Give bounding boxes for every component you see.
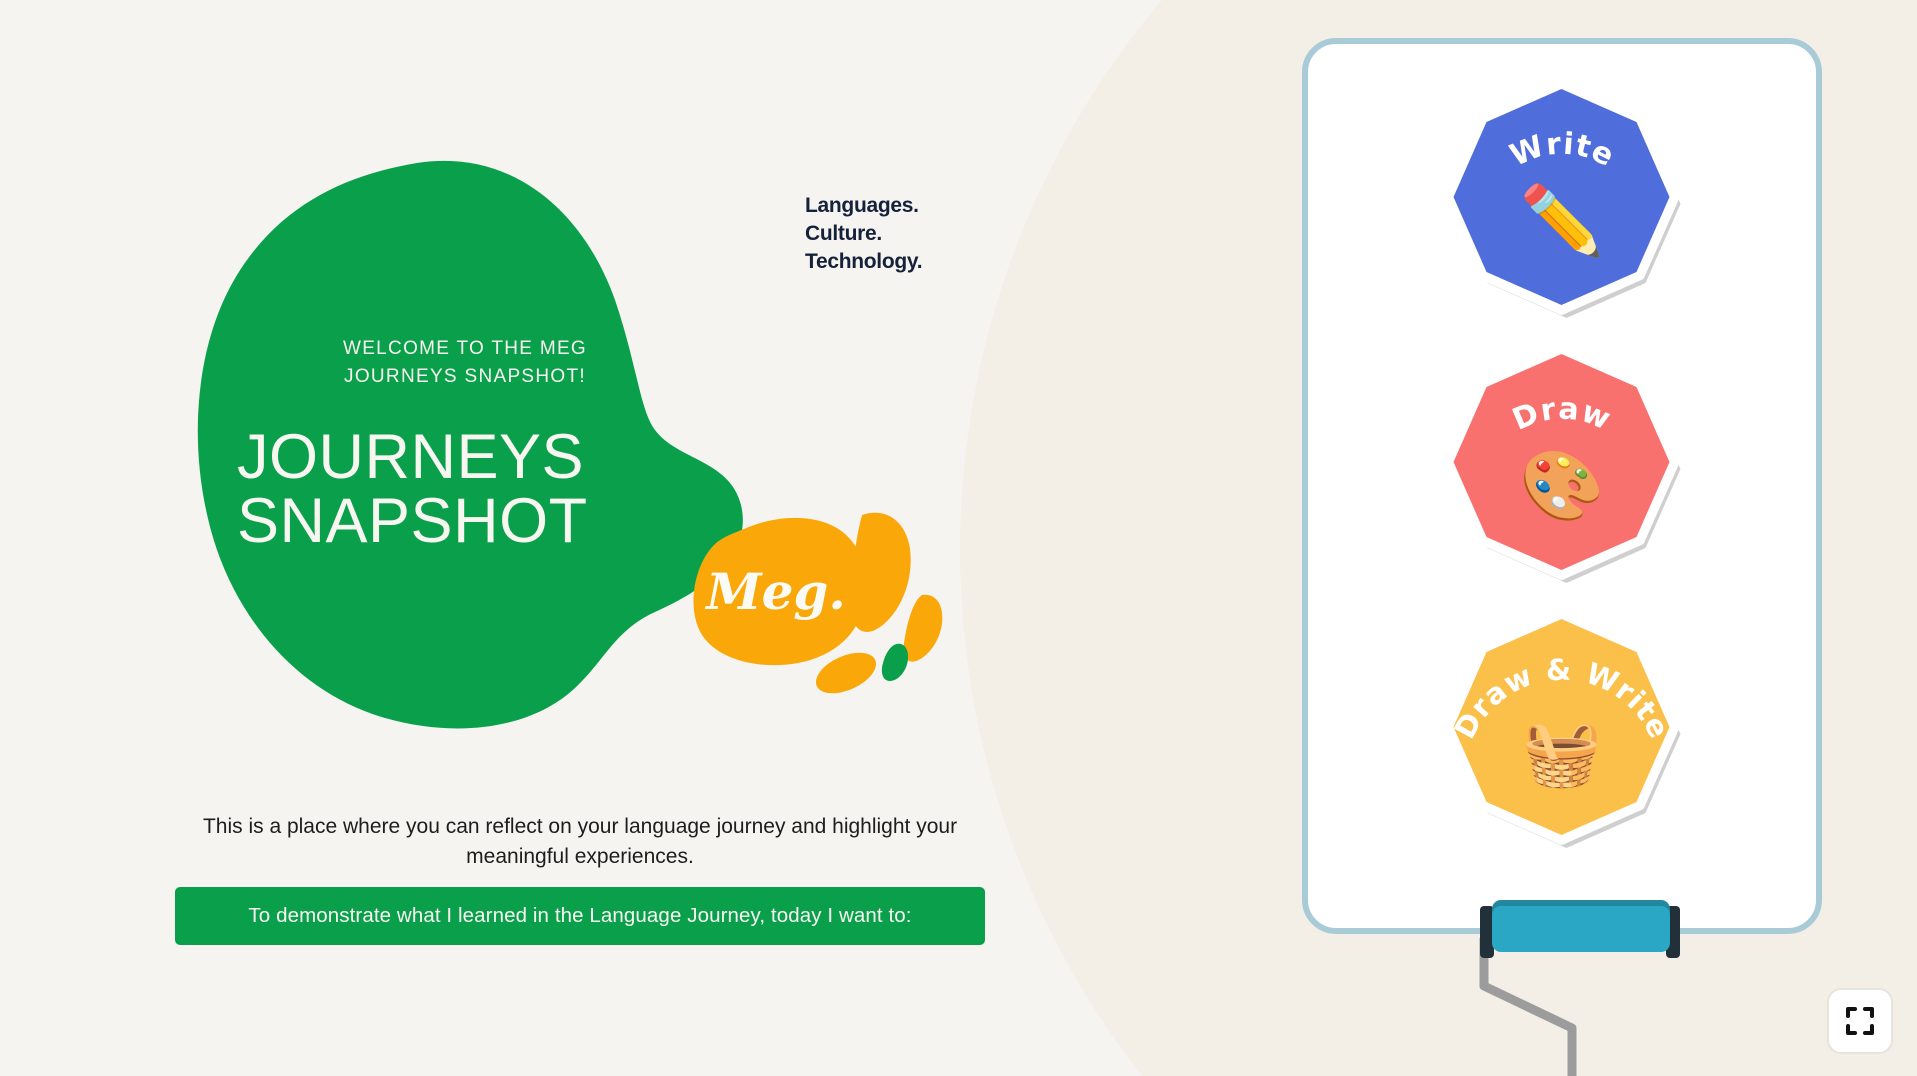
tagline-line-3: Technology. [805,248,922,276]
paint-roller [1480,900,1680,970]
prompt-bar-label: To demonstrate what I learned in the Lan… [248,904,911,928]
green-blob-shape [185,160,745,730]
tagline-line-2: Culture. [805,220,922,248]
prompt-bar: To demonstrate what I learned in the Lan… [175,887,985,945]
tagline-line-1: Languages. [805,192,922,220]
fullscreen-button[interactable] [1827,988,1893,1054]
tagline: Languages. Culture. Technology. [805,192,922,276]
roller-body [1492,900,1670,952]
choice-button-draw-and-write[interactable]: Draw & Write 🧺 [1445,609,1680,844]
description-text: This is a place where you can reflect on… [180,812,980,872]
fullscreen-icon [1845,1006,1875,1036]
choice-panel: Write ✏️ Draw 🎨 [1302,38,1822,934]
choice-button-write[interactable]: Write ✏️ [1445,79,1680,314]
meg-wordmark: Meg. [704,562,846,621]
meg-logo: Meg. [690,505,950,705]
hero-column: WELCOME TO THE MEG JOURNEYS SNAPSHOT! JO… [0,0,1100,1076]
choice-button-draw[interactable]: Draw 🎨 [1445,344,1680,579]
slide-canvas: WELCOME TO THE MEG JOURNEYS SNAPSHOT! JO… [0,0,1917,1076]
